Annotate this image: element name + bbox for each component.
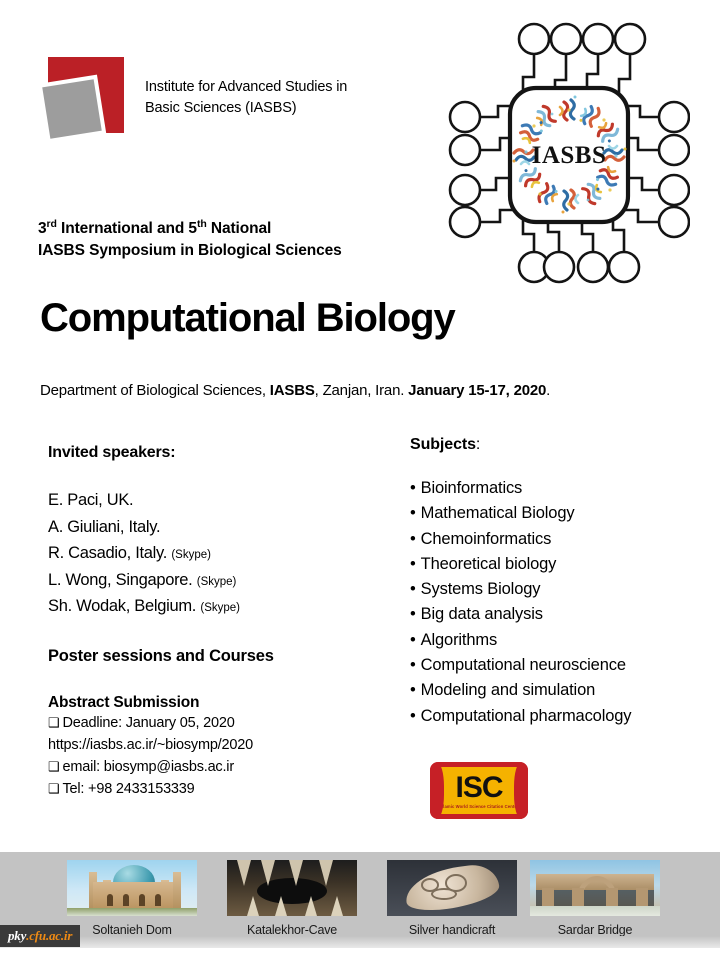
institute-name: Institute for Advanced Studies in Basic … xyxy=(145,77,385,119)
silver-handicraft-photo xyxy=(387,860,517,916)
department-text: Department of Biological Sciences, xyxy=(40,382,270,399)
poster-sessions-heading: Poster sessions and Courses xyxy=(48,647,388,666)
list-item: •Computational neuroscience xyxy=(410,653,710,678)
invited-speakers-heading: Invited speakers: xyxy=(48,444,388,462)
footer-item-sardar-bridge: Sardar Bridge xyxy=(520,860,670,937)
list-item: •Computational pharmacology xyxy=(410,704,710,729)
biochip-graphic: IASBS xyxy=(448,22,690,284)
dot-bullet-icon: • xyxy=(410,504,416,522)
watermark-domain: .cfu.ac.ir xyxy=(26,928,72,944)
footer-caption: Katalekhor-Cave xyxy=(217,923,367,937)
subject-label: Bioinformatics xyxy=(421,479,523,497)
line1-mid: International and 5 xyxy=(57,220,197,237)
box-bullet-icon: ❑ xyxy=(48,715,59,730)
subject-label: Modeling and simulation xyxy=(421,681,596,699)
stalactite xyxy=(319,860,333,886)
speaker-name: E. Paci, UK. xyxy=(48,491,133,509)
iasbs-square-logo-icon xyxy=(42,57,128,139)
venue-location: , Zanjan, Iran. xyxy=(315,382,409,399)
footer-caption: Sardar Bridge xyxy=(520,923,670,937)
dot-bullet-icon: • xyxy=(410,631,416,649)
right-column: Subjects: •Bioinformatics •Mathematical … xyxy=(410,436,710,729)
institute-name-line2: Basic Sciences (IASBS) xyxy=(145,98,385,119)
ordinal-3: 3 xyxy=(38,220,47,237)
subjects-heading-colon: : xyxy=(476,436,480,453)
speaker-name: R. Casadio, Italy. xyxy=(48,544,167,562)
footer-caption: Silver handicraft xyxy=(377,923,527,937)
left-column: Invited speakers: E. Paci, UK. A. Giulia… xyxy=(48,444,388,800)
stalagmite xyxy=(275,896,287,916)
chip-label: IASBS xyxy=(532,142,607,169)
venue-period: . xyxy=(546,382,550,399)
institute-name-line1: Institute for Advanced Studies in xyxy=(145,77,385,98)
symposium-heading: 3rd International and 5th National IASBS… xyxy=(38,218,468,262)
watermark-prefix: pky xyxy=(8,928,26,944)
subject-label: Systems Biology xyxy=(421,580,541,598)
dot-bullet-icon: • xyxy=(410,681,416,699)
soltanieh-dome-photo xyxy=(67,860,197,916)
katalekhor-cave-photo xyxy=(227,860,357,916)
footer-item-silver-handicraft: Silver handicraft xyxy=(377,860,527,937)
list-item: •Mathematical Biology xyxy=(410,501,710,526)
conference-dates: January 15-17, 2020 xyxy=(408,382,546,399)
email-row[interactable]: ❑email: biosymp@iasbs.ac.ir xyxy=(48,756,388,778)
stalagmite xyxy=(305,896,317,916)
symposium-line-2: IASBS Symposium in Biological Sciences xyxy=(38,240,468,262)
subject-label: Chemoinformatics xyxy=(421,530,552,548)
ordinal-5-suffix: th xyxy=(197,218,207,230)
logo-grey-fill xyxy=(42,79,101,138)
telephone-row: ❑Tel: +98 2433153339 xyxy=(48,778,388,800)
subject-label: Big data analysis xyxy=(421,605,543,623)
speaker-name: A. Giuliani, Italy. xyxy=(48,518,160,536)
box-bullet-icon: ❑ xyxy=(48,781,59,796)
isc-logo-text: ISC xyxy=(455,773,502,803)
dome-window xyxy=(139,894,145,906)
dome-window xyxy=(123,894,129,906)
dot-bullet-icon: • xyxy=(410,555,416,573)
speaker-note: (Skype) xyxy=(197,576,237,588)
list-item: •Theoretical biology xyxy=(410,552,710,577)
list-item: Sh. Wodak, Belgium. (Skype) xyxy=(48,594,388,621)
list-item: •Chemoinformatics xyxy=(410,527,710,552)
subject-label: Computational neuroscience xyxy=(421,656,626,674)
dot-bullet-icon: • xyxy=(410,530,416,548)
conference-poster: Institute for Advanced Studies in Basic … xyxy=(0,0,720,960)
ordinal-3-suffix: rd xyxy=(47,218,57,230)
filigree-swirl xyxy=(431,888,457,900)
logo-grey-square xyxy=(38,75,107,144)
deadline-row: ❑Deadline: January 05, 2020 xyxy=(48,712,388,734)
subject-label: Theoretical biology xyxy=(421,555,557,573)
dome-building xyxy=(93,882,173,910)
footer-strip: Soltanieh Dom Katalekhor-Cave xyxy=(0,852,720,948)
symposium-line-1: 3rd International and 5th National xyxy=(38,218,468,240)
list-item: •Algorithms xyxy=(410,628,710,653)
stalagmite xyxy=(247,896,259,916)
subjects-heading-text: Subjects xyxy=(410,436,476,453)
isc-swoosh-right xyxy=(514,762,528,819)
line1-post: National xyxy=(207,220,272,237)
sardar-bridge-photo xyxy=(530,860,660,916)
abstract-submission-heading: Abstract Submission xyxy=(48,694,388,712)
deadline-text: Deadline: January 05, 2020 xyxy=(62,715,234,731)
speaker-name: L. Wong, Singapore. xyxy=(48,571,192,589)
isc-swoosh-left xyxy=(430,762,444,819)
dome-window xyxy=(107,894,113,906)
stalactite xyxy=(289,860,303,886)
iasbs-logo-block: Institute for Advanced Studies in Basic … xyxy=(42,57,372,157)
speaker-name: Sh. Wodak, Belgium. xyxy=(48,597,196,615)
subject-label: Algorithms xyxy=(421,631,497,649)
list-item: E. Paci, UK. xyxy=(48,488,388,515)
list-item: L. Wong, Singapore. (Skype) xyxy=(48,568,388,595)
footer-item-katalekhor-cave: Katalekhor-Cave xyxy=(217,860,367,937)
poster-header: Institute for Advanced Studies in Basic … xyxy=(0,0,720,200)
list-item: •Bioinformatics xyxy=(410,476,710,501)
subjects-heading: Subjects: xyxy=(410,436,710,454)
speaker-note: (Skype) xyxy=(200,602,240,614)
stalactite xyxy=(261,860,275,886)
venue-institute: IASBS xyxy=(270,382,315,399)
list-item: R. Casadio, Italy. (Skype) xyxy=(48,541,388,568)
list-item: A. Giuliani, Italy. xyxy=(48,515,388,542)
stalactite xyxy=(237,860,251,886)
isc-logo-inner: ISC Islamic World Science Citation Cente… xyxy=(436,767,522,814)
isc-logo-subtext: Islamic World Science Citation Center xyxy=(439,804,518,809)
dot-bullet-icon: • xyxy=(410,707,416,725)
dot-bullet-icon: • xyxy=(410,479,416,497)
page-title: Computational Biology xyxy=(40,296,455,340)
list-item: •Big data analysis xyxy=(410,602,710,627)
email-text[interactable]: email: biosymp@iasbs.ac.ir xyxy=(62,759,234,775)
stalagmite xyxy=(331,896,343,916)
telephone-text: Tel: +98 2433153339 xyxy=(62,781,194,797)
dot-bullet-icon: • xyxy=(410,656,416,674)
subject-label: Computational pharmacology xyxy=(421,707,632,725)
dome-window xyxy=(155,894,161,906)
subject-label: Mathematical Biology xyxy=(421,504,575,522)
list-item: •Systems Biology xyxy=(410,577,710,602)
list-item: •Modeling and simulation xyxy=(410,678,710,703)
box-bullet-icon: ❑ xyxy=(48,759,59,774)
site-watermark: pky.cfu.ac.ir xyxy=(0,925,80,947)
dot-bullet-icon: • xyxy=(410,580,416,598)
dome-tower xyxy=(173,872,181,910)
dot-bullet-icon: • xyxy=(410,605,416,623)
bridge-water xyxy=(530,906,660,916)
isc-logo: ISC Islamic World Science Citation Cente… xyxy=(430,762,528,819)
venue-and-date-line: Department of Biological Sciences, IASBS… xyxy=(40,381,550,401)
website-row[interactable]: https://iasbs.ac.ir/~biosymp/2020 xyxy=(48,734,388,756)
dome-ground xyxy=(67,908,197,916)
speaker-note: (Skype) xyxy=(171,549,211,561)
website-url[interactable]: https://iasbs.ac.ir/~biosymp/2020 xyxy=(48,737,253,753)
